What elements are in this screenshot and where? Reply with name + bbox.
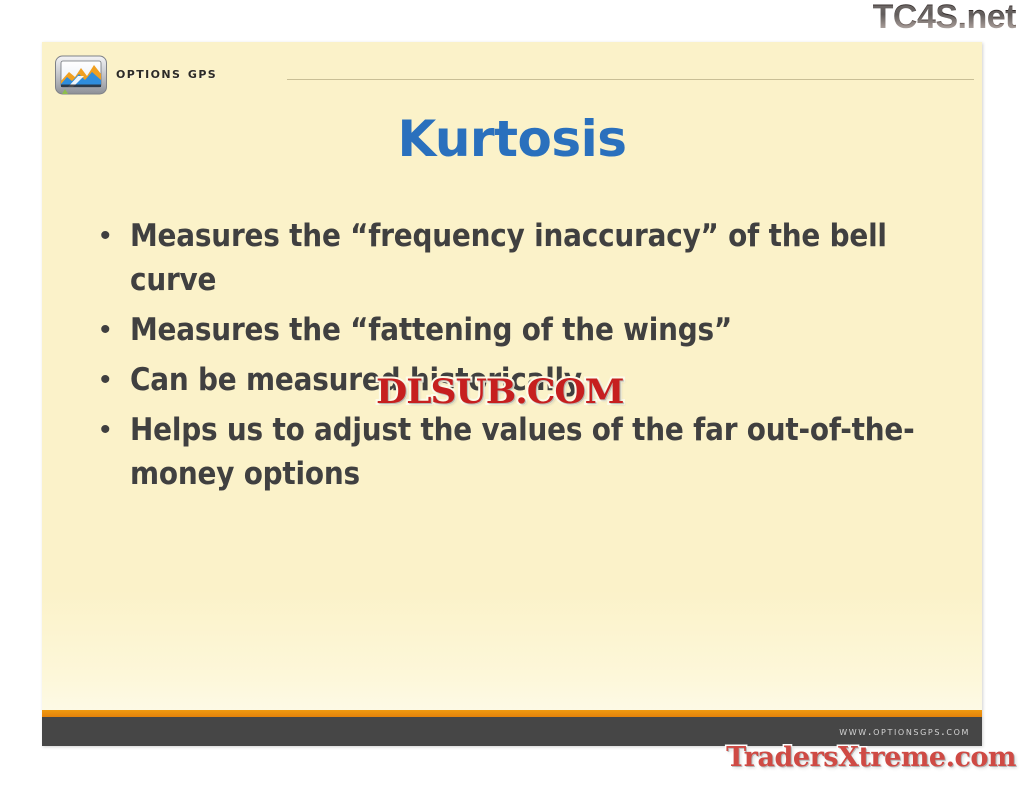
bullet-point-icon: • (94, 308, 130, 352)
list-item: • Measures the “fattening of the wings” (94, 308, 954, 352)
tradersxtreme-watermark: TradersXtreme.com (726, 742, 1016, 773)
header-divider (287, 79, 974, 80)
dlsub-watermark: DLSUB.COM (376, 372, 623, 412)
list-item-text: Measures the “fattening of the wings” (130, 308, 920, 352)
page-title: Kurtosis (42, 110, 982, 168)
brand-name: Options GPS (116, 64, 217, 82)
gps-device-chart-icon (54, 54, 108, 98)
bullet-point-icon: • (94, 214, 130, 258)
tc4s-watermark: TC4S.net (873, 0, 1016, 37)
list-item-text: Measures the “frequency inaccuracy” of t… (130, 214, 920, 302)
bullet-list: • Measures the “frequency inaccuracy” of… (94, 214, 954, 502)
slide-canvas: TC4S.net (0, 0, 1024, 791)
footer-url: www.OptionsGPS.com (839, 724, 970, 738)
slide-header: Options GPS (42, 42, 982, 98)
list-item: • Measures the “frequency inaccuracy” of… (94, 214, 954, 302)
bullet-point-icon: • (94, 358, 130, 402)
accent-divider (42, 710, 982, 717)
bullet-point-icon: • (94, 408, 130, 452)
list-item: • Helps us to adjust the values of the f… (94, 408, 954, 496)
list-item-text: Helps us to adjust the values of the far… (130, 408, 920, 496)
